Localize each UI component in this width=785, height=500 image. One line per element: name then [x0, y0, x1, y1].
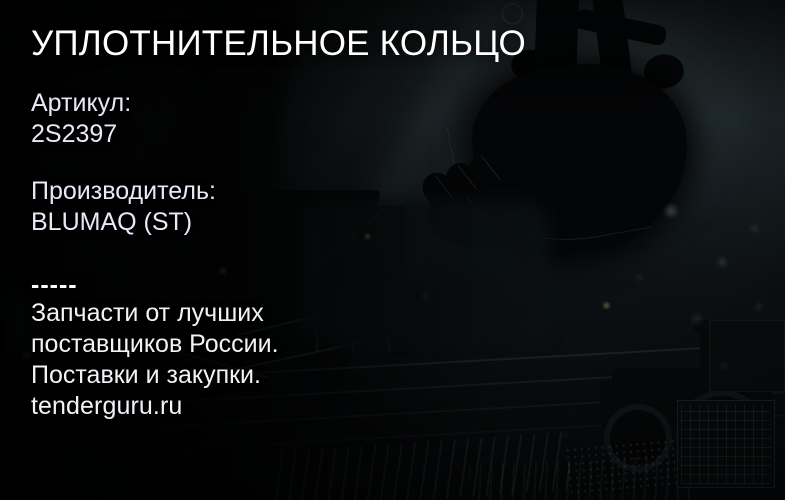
- product-title: УПЛОТНИТЕЛЬНОЕ КОЛЬЦО: [31, 24, 526, 64]
- manufacturer-value: BLUMAQ (ST): [31, 207, 216, 238]
- tagline-line-3: Поставки и закупки.: [31, 360, 279, 391]
- separator-dashes: -----: [31, 272, 279, 298]
- article-value: 2S2397: [31, 119, 131, 150]
- manufacturer-field: Производитель: BLUMAQ (ST): [31, 176, 216, 238]
- article-field: Артикул: 2S2397: [31, 88, 131, 150]
- banner-content: УПЛОТНИТЕЛЬНОЕ КОЛЬЦО Артикул: 2S2397 Пр…: [31, 0, 591, 500]
- product-banner: УПЛОТНИТЕЛЬНОЕ КОЛЬЦО Артикул: 2S2397 Пр…: [0, 0, 785, 500]
- site-url: tenderguru.ru: [31, 391, 279, 422]
- tagline-line-1: Запчасти от лучших: [31, 298, 279, 329]
- banner-footer: ----- Запчасти от лучших поставщиков Рос…: [31, 272, 279, 422]
- article-label: Артикул:: [31, 88, 131, 119]
- tagline-line-2: поставщиков России.: [31, 329, 279, 360]
- manufacturer-label: Производитель:: [31, 176, 216, 207]
